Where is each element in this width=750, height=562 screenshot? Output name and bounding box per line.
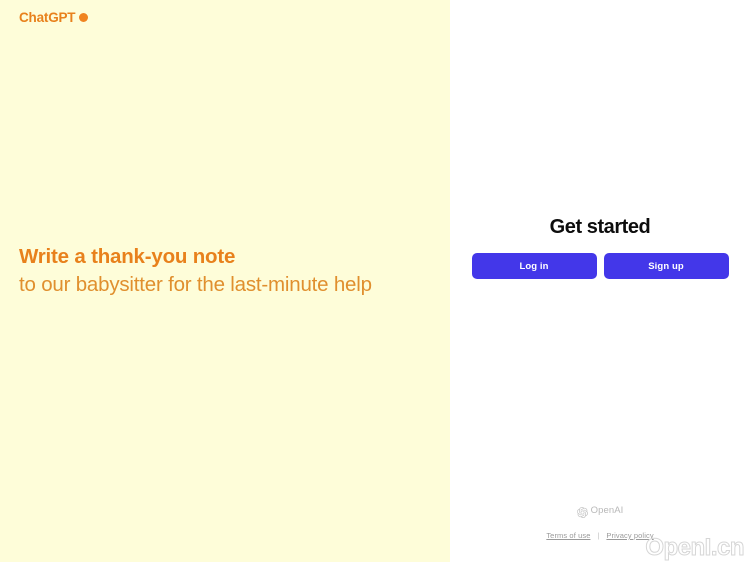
signup-button[interactable]: Sign up — [604, 253, 729, 279]
promo-panel: ChatGPT Write a thank-you note to our ba… — [0, 0, 450, 562]
auth-center-block: Get started Log in Sign up — [450, 215, 750, 279]
login-button[interactable]: Log in — [472, 253, 597, 279]
chatgpt-landing-page: ChatGPT Write a thank-you note to our ba… — [0, 0, 750, 562]
footer-separator: | — [597, 531, 599, 540]
openai-brand: OpenAI — [577, 505, 624, 516]
footer-links: Terms of use | Privacy policy — [546, 531, 653, 540]
openai-logo-icon — [577, 505, 588, 516]
openai-brand-name: OpenAI — [591, 506, 624, 516]
auth-panel: Get started Log in Sign up OpenAI Terms … — [450, 0, 750, 562]
promo-headline-regular: to our babysitter for the last-minute he… — [19, 271, 419, 299]
page-title: Get started — [550, 215, 651, 239]
privacy-policy-link[interactable]: Privacy policy — [606, 531, 653, 540]
terms-of-use-link[interactable]: Terms of use — [546, 531, 590, 540]
promo-headline-bold: Write a thank-you note — [19, 243, 419, 271]
footer: OpenAI Terms of use | Privacy policy — [450, 505, 750, 540]
chatgpt-wordmark: ChatGPT — [19, 11, 75, 25]
promo-headline: Write a thank-you note to our babysitter… — [19, 243, 419, 299]
orange-dot-icon — [79, 13, 88, 22]
auth-button-group: Log in Sign up — [472, 253, 729, 279]
chatgpt-brand-logo[interactable]: ChatGPT — [19, 11, 88, 25]
